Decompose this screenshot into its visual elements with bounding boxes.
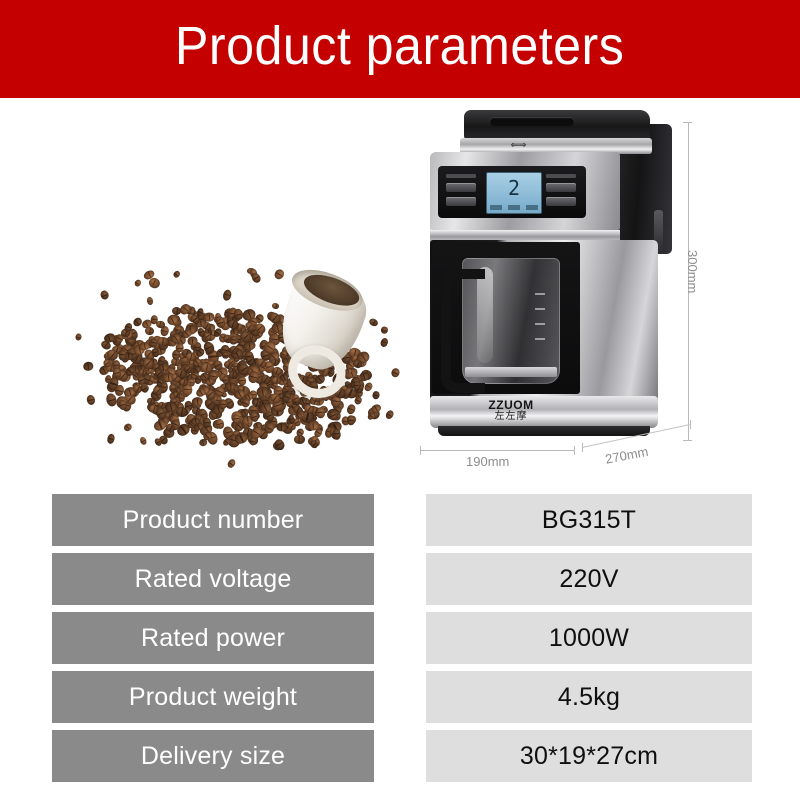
spec-key-cell: Rated voltage <box>52 553 374 605</box>
coffee-bean <box>175 343 183 353</box>
machine-upper-body: 2 <box>430 152 620 230</box>
spec-table: Product number BG315T Rated voltage 220V… <box>52 494 752 789</box>
control-button[interactable] <box>546 197 576 206</box>
coffee-bean <box>273 268 286 282</box>
coffee-bean <box>222 289 232 301</box>
depth-dimension-label: 270mm <box>604 444 649 467</box>
spec-value-label: 4.5kg <box>558 685 620 710</box>
spec-key-label: Product number <box>123 508 304 533</box>
coffee-bean <box>371 391 379 401</box>
height-dimension-label: 300mm <box>685 250 700 293</box>
product-photo-area: ⇐⇒ 2 <box>0 100 800 488</box>
lcd-value: 2 <box>487 178 541 198</box>
machine-feet <box>438 426 650 436</box>
spec-value-cell: BG315T <box>426 494 752 546</box>
left-button-group[interactable] <box>446 174 476 206</box>
coffee-bean <box>347 415 355 425</box>
coffee-bean <box>156 337 168 347</box>
coffee-bean <box>363 381 374 392</box>
machine-control-panel: 2 <box>438 166 586 218</box>
lcd-display: 2 <box>486 172 542 214</box>
lcd-indicators <box>490 205 538 210</box>
coffee-bean <box>381 327 388 335</box>
width-tick-right <box>574 446 575 455</box>
product-parameters-page: Product parameters ⇐⇒ <box>0 0 800 800</box>
width-tick-left <box>420 446 421 455</box>
depth-tick-left <box>582 443 583 452</box>
coffee-bean <box>380 338 389 349</box>
height-tick-bottom <box>683 440 692 441</box>
spec-key-label: Product weight <box>129 685 297 710</box>
brew-chamber <box>432 242 580 394</box>
depth-tick-right <box>690 420 691 429</box>
control-button[interactable] <box>446 183 476 192</box>
control-button[interactable] <box>446 197 476 206</box>
page-title: Product parameters <box>175 19 624 73</box>
spec-value-label: 1000W <box>549 626 629 651</box>
coffee-bean <box>122 423 132 433</box>
coffee-bean <box>192 396 204 407</box>
width-dimension-line <box>420 450 574 451</box>
machine-top-lid <box>464 110 650 140</box>
coffee-bean <box>148 276 162 289</box>
right-button-group[interactable] <box>546 174 576 206</box>
spec-key-cell: Product number <box>52 494 374 546</box>
table-row: Product number BG315T <box>52 494 752 546</box>
spec-key-label: Rated power <box>141 626 285 651</box>
spec-value-cell: 220V <box>426 553 752 605</box>
table-row: Product weight 4.5kg <box>52 671 752 723</box>
coffee-bean <box>250 272 262 285</box>
coffee-bean <box>272 437 285 451</box>
spec-value-label: BG315T <box>542 508 636 533</box>
spec-value-label: 30*19*27cm <box>520 744 658 769</box>
coffee-bean <box>172 270 181 280</box>
button-label <box>446 174 476 178</box>
coffee-bean <box>276 421 288 431</box>
coffee-bean <box>384 409 395 421</box>
coffee-bean <box>249 437 256 445</box>
coffee-beans-image <box>78 250 398 460</box>
coffee-bean <box>229 371 238 379</box>
control-button[interactable] <box>546 183 576 192</box>
brand-name-latin: ZZUOM <box>456 399 566 412</box>
button-label <box>546 174 576 178</box>
carafe-level-markings <box>535 293 545 340</box>
coffee-bean <box>86 394 96 405</box>
coffee-bean <box>390 367 400 378</box>
spec-value-label: 220V <box>559 567 618 592</box>
coffee-bean <box>146 296 154 305</box>
lid-slider <box>490 117 574 126</box>
glass-carafe <box>462 258 560 384</box>
coffee-bean <box>133 278 142 288</box>
coffee-machine-image: ⇐⇒ 2 <box>412 110 680 440</box>
spec-key-label: Rated voltage <box>135 567 292 592</box>
coffee-bean <box>226 458 237 469</box>
coffee-bean <box>99 289 110 300</box>
coffee-bean <box>222 351 229 359</box>
coffee-bean <box>151 315 159 324</box>
banner-underline <box>0 92 800 98</box>
spec-value-cell: 30*19*27cm <box>426 730 752 782</box>
coffee-bean <box>294 435 305 444</box>
brand-name-chinese: 左左摩 <box>456 412 566 423</box>
table-row: Rated voltage 220V <box>52 553 752 605</box>
header-banner: Product parameters <box>0 0 800 92</box>
spec-key-cell: Delivery size <box>52 730 374 782</box>
coffee-bean <box>118 350 126 361</box>
coffee-bean <box>345 403 356 415</box>
carafe-handle <box>441 269 485 393</box>
coffee-bean <box>106 433 115 444</box>
coffee-bean <box>75 333 82 341</box>
table-row: Rated power 1000W <box>52 612 752 664</box>
coffee-bean <box>139 436 148 446</box>
coffee-bean <box>82 362 93 372</box>
coffee-bean <box>308 420 319 430</box>
brand-logo: ZZUOM 左左摩 <box>456 399 566 422</box>
machine-main-body <box>430 240 658 408</box>
coffee-bean <box>315 407 325 418</box>
coffee-bean <box>179 378 188 386</box>
spec-value-cell: 1000W <box>426 612 752 664</box>
height-tick-top <box>683 122 692 123</box>
spec-key-cell: Rated power <box>52 612 374 664</box>
width-dimension-label: 190mm <box>466 454 509 469</box>
table-row: Delivery size 30*19*27cm <box>52 730 752 782</box>
spec-key-label: Delivery size <box>141 744 285 769</box>
double-arrow-icon: ⇐⇒ <box>496 141 540 151</box>
spec-value-cell: 4.5kg <box>426 671 752 723</box>
spec-key-cell: Product weight <box>52 671 374 723</box>
